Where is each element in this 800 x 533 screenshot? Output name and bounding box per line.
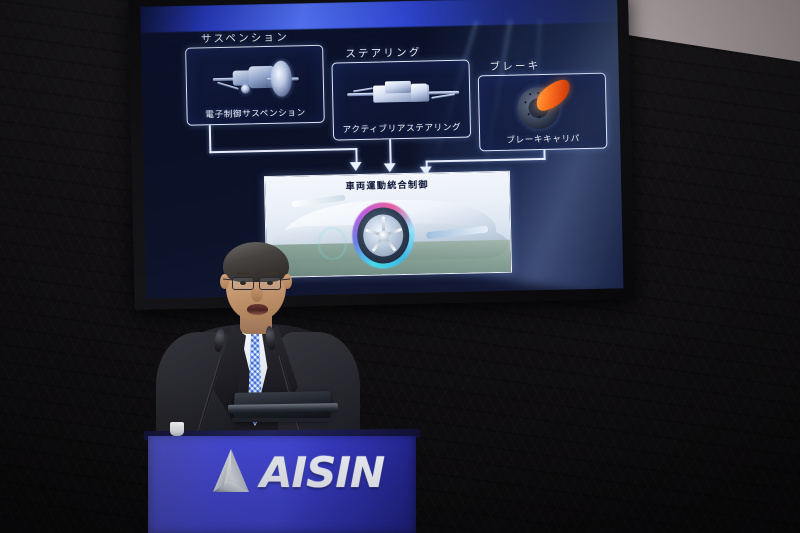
- steering-rack-icon: [347, 77, 460, 111]
- stage-scene: サスペンション ステアリング ブレーキ 電子制御サスペンション: [0, 0, 800, 533]
- drinking-cup: [170, 422, 184, 436]
- nose: [251, 286, 263, 302]
- aisin-logo-icon: [206, 446, 256, 496]
- eye-left: [240, 281, 246, 285]
- ear-left: [220, 274, 229, 289]
- brake-caliper-icon: [513, 82, 576, 129]
- diagram-node-brake[interactable]: ブレーキキャリパ: [478, 73, 608, 152]
- category-label-suspension: サスペンション: [201, 30, 289, 47]
- mouth: [247, 304, 268, 315]
- category-label-brake: ブレーキ: [489, 58, 540, 74]
- node-caption-suspension: 電子制御サスペンション: [187, 106, 323, 121]
- diagram-node-suspension[interactable]: 電子制御サスペンション: [185, 45, 325, 126]
- strut-icon: [210, 56, 305, 102]
- category-label-steering: ステアリング: [345, 45, 422, 62]
- diagram-node-steering[interactable]: アクティブリアステアリング: [331, 60, 471, 141]
- eye-right: [267, 281, 273, 285]
- screen-glow-band: [140, 0, 617, 33]
- node-caption-brake: ブレーキキャリパ: [480, 132, 606, 147]
- node-caption-steering: アクティブリアステアリング: [334, 121, 470, 136]
- hair: [223, 242, 289, 282]
- aisin-wordmark: AISIN: [260, 448, 384, 497]
- glasses-bridge: [253, 281, 260, 282]
- ear-right: [283, 274, 292, 289]
